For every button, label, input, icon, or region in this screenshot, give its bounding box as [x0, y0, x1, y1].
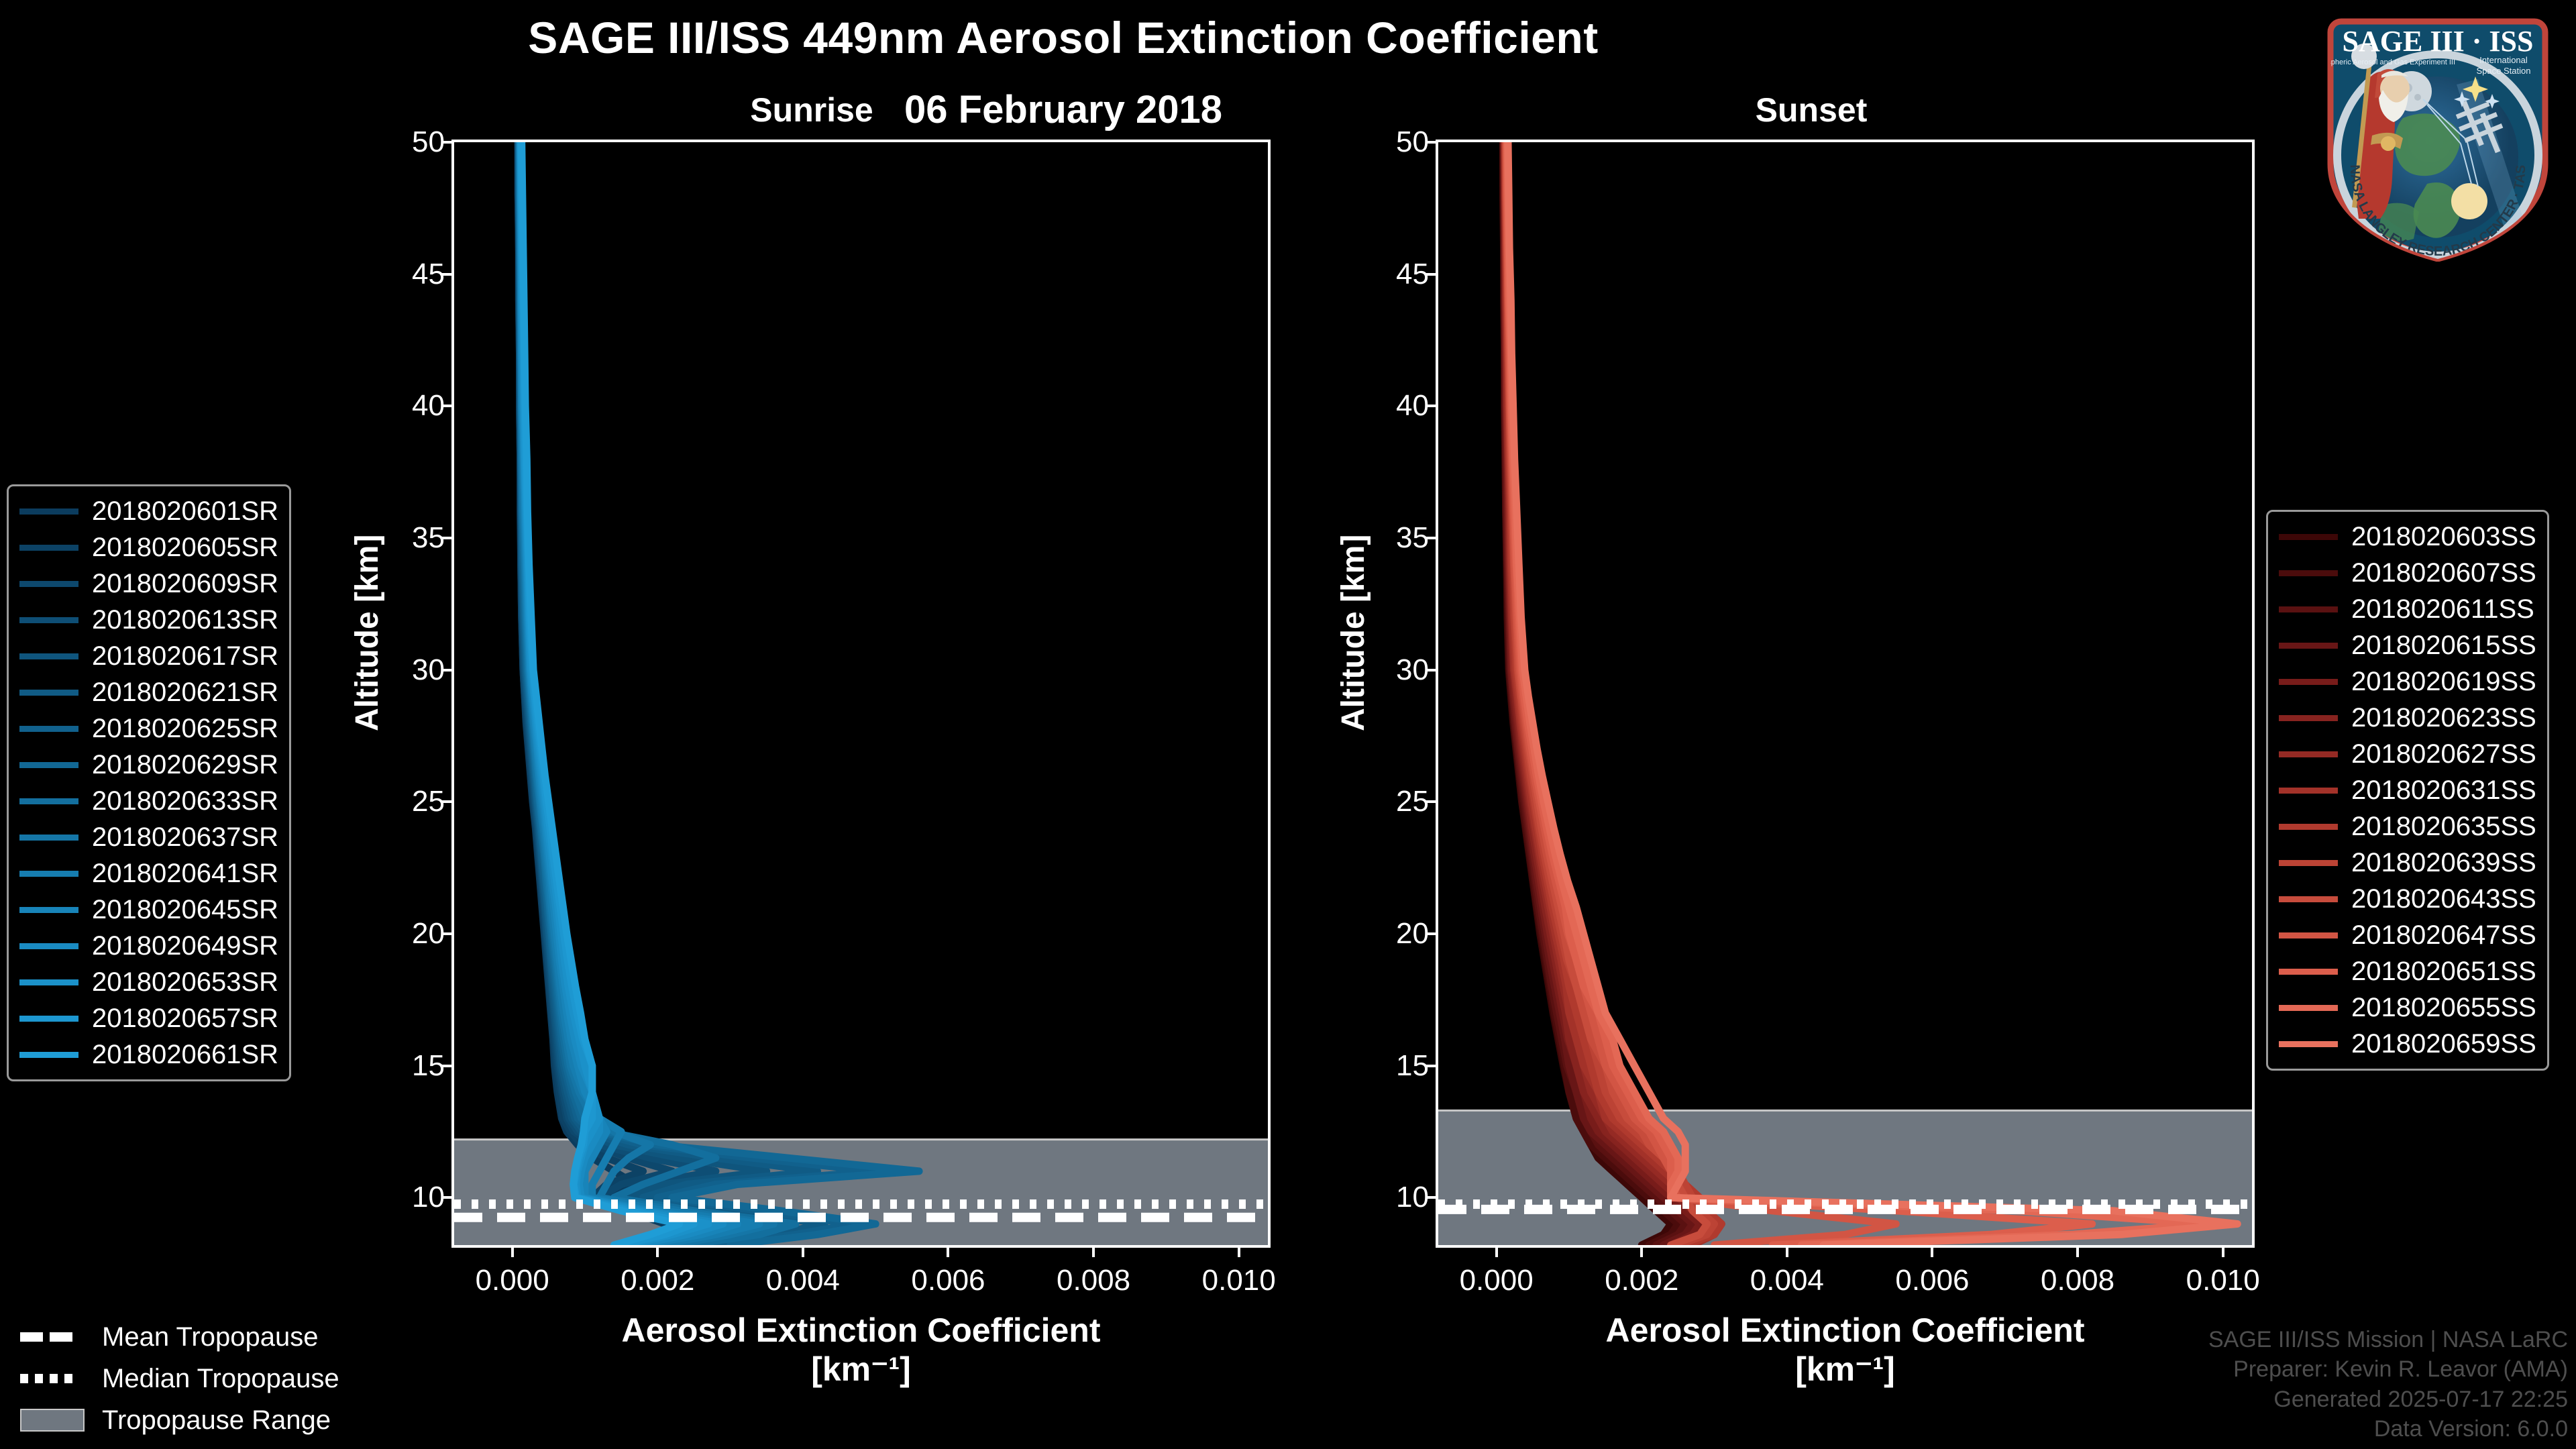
tropopause-legend-label: Tropopause Range [102, 1405, 331, 1436]
x-axis-tick-label-sunrise: 0.010 [1202, 1264, 1276, 1297]
y-axis-tick-label-sunrise: 45 [412, 258, 445, 291]
legend-sunset-item[interactable]: 2018020611SS [2279, 591, 2536, 627]
legend-item-label: 2018020615SS [2351, 631, 2536, 661]
legend-sunset-item[interactable]: 2018020615SS [2279, 627, 2536, 663]
legend-item-label: 2018020651SS [2351, 957, 2536, 987]
tropopause-legend-item: Median Tropopause [20, 1358, 339, 1399]
tropopause-legend-label: Median Tropopause [102, 1364, 339, 1394]
legend-sunset-item[interactable]: 2018020627SS [2279, 736, 2536, 772]
profile-line [518, 142, 679, 1245]
x-axis-unit: [km⁻¹] [451, 1350, 1271, 1389]
legend-sunrise-item[interactable]: 2018020637SR [19, 819, 278, 855]
legend-color-swatch [2279, 534, 2338, 540]
legend-color-swatch [19, 1016, 78, 1022]
legend-color-swatch [2279, 824, 2338, 830]
panel-label-sunset: Sunset [1603, 91, 2019, 129]
y-axis-tick-label-sunrise: 40 [412, 389, 445, 423]
x-axis-label-text: Aerosol Extinction Coefficient [1606, 1311, 2085, 1349]
x-axis-tick-mark [2076, 1245, 2079, 1257]
sage-iii-iss-mission-patch-logo: SAGE III · ISS Stratospheric Aerosol and… [2302, 4, 2573, 262]
profile-line [518, 142, 716, 1245]
y-axis-tick-label-sunrise: 15 [412, 1049, 445, 1083]
legend-item-label: 2018020657SR [92, 1004, 278, 1034]
mean-tropopause-dash-swatch [20, 1332, 85, 1342]
legend-item-label: 2018020655SS [2351, 993, 2536, 1023]
x-axis-tick-mark [2222, 1245, 2224, 1257]
legend-sunrise-item[interactable]: 2018020625SR [19, 710, 278, 747]
y-axis-tick-label-sunrise: 30 [412, 653, 445, 687]
x-axis-tick-label-sunset: 0.004 [1750, 1264, 1824, 1297]
profile-line [521, 142, 694, 1245]
legend-item-label: 2018020627SS [2351, 739, 2536, 769]
y-axis-tick-label-sunrise: 35 [412, 521, 445, 555]
legend-item-label: 2018020653SR [92, 967, 278, 998]
x-axis-tick-mark [656, 1245, 659, 1257]
legend-sunset-item[interactable]: 2018020619SS [2279, 663, 2536, 700]
legend-color-swatch [2279, 606, 2338, 612]
legend-color-swatch [2279, 969, 2338, 975]
legend-sunset-item[interactable]: 2018020603SS [2279, 519, 2536, 555]
panel-label-sunrise: Sunrise [604, 91, 1020, 129]
y-axis-tick-mark [442, 273, 454, 276]
y-axis-tick-label-sunrise: 25 [412, 785, 445, 818]
legend-color-swatch [2279, 751, 2338, 757]
legend-item-label: 2018020625SR [92, 714, 278, 744]
legend-sunset-item[interactable]: 2018020631SS [2279, 772, 2536, 808]
legend-color-swatch [2279, 679, 2338, 685]
legend-color-swatch [19, 835, 78, 841]
x-axis-label-sunrise: Aerosol Extinction Coefficient [km⁻¹] [451, 1311, 1271, 1389]
y-axis-tick-mark [1426, 1065, 1438, 1067]
legend-sunset-item[interactable]: 2018020635SS [2279, 808, 2536, 845]
tropopause-range-swatch [20, 1409, 85, 1432]
legend-item-label: 2018020647SS [2351, 920, 2536, 951]
x-axis-tick-label-sunrise: 0.006 [911, 1264, 985, 1297]
y-axis-tick-mark [1426, 405, 1438, 407]
y-axis-tick-mark [442, 800, 454, 803]
y-axis-tick-label-sunrise: 10 [412, 1181, 445, 1214]
legend-color-swatch [19, 617, 78, 623]
legend-color-swatch [2279, 715, 2338, 721]
x-axis-tick-label-sunset: 0.006 [1895, 1264, 1969, 1297]
tropopause-legend-item: Tropopause Range [20, 1399, 339, 1441]
legend-item-label: 2018020601SR [92, 496, 278, 527]
legend-sunrise-item[interactable]: 2018020653SR [19, 964, 278, 1000]
credits-line: Preparer: Kevin R. Leavor (AMA) [2208, 1354, 2568, 1384]
legend-sunset-item[interactable]: 2018020639SS [2279, 845, 2536, 881]
legend-sunrise-item[interactable]: 2018020641SR [19, 855, 278, 892]
credits-line: Generated 2025-07-17 22:25 [2208, 1385, 2568, 1414]
x-axis-tick-label-sunset: 0.008 [2041, 1264, 2114, 1297]
x-axis-tick-label-sunset: 0.010 [2186, 1264, 2260, 1297]
x-axis-tick-mark [802, 1245, 804, 1257]
legend-color-swatch [19, 1052, 78, 1058]
legend-color-swatch [2279, 860, 2338, 866]
legend-item-label: 2018020633SR [92, 786, 278, 816]
legend-sunset[interactable]: 2018020603SS2018020607SS2018020611SS2018… [2266, 510, 2549, 1071]
y-axis-tick-mark [442, 537, 454, 539]
plot-area-sunrise [454, 142, 1268, 1245]
legend-item-label: 2018020621SR [92, 678, 278, 708]
y-axis-tick-label-sunset: 35 [1396, 521, 1429, 555]
legend-color-swatch [19, 726, 78, 732]
legend-color-swatch [19, 508, 78, 515]
legend-sunset-item[interactable]: 2018020651SS [2279, 953, 2536, 989]
legend-tropopause: Mean TropopauseMedian TropopauseTropopau… [20, 1316, 339, 1441]
legend-item-label: 2018020605SR [92, 533, 278, 563]
legend-color-swatch [2279, 896, 2338, 902]
profile-line [521, 142, 709, 1245]
x-axis-tick-mark [947, 1245, 949, 1257]
legend-color-swatch [2279, 932, 2338, 938]
legend-sunrise-item[interactable]: 2018020657SR [19, 1000, 278, 1036]
legend-item-label: 2018020623SS [2351, 703, 2536, 733]
legend-color-swatch [19, 545, 78, 551]
legend-sunset-item[interactable]: 2018020643SS [2279, 881, 2536, 917]
plot-panel-sunrise: 1015202530354045500.0000.0020.0040.0060.… [451, 140, 1271, 1248]
legend-sunset-item[interactable]: 2018020623SS [2279, 700, 2536, 736]
logo-subtitle-right-2: Space Station [2477, 66, 2531, 76]
legend-item-label: 2018020649SR [92, 931, 278, 961]
y-axis-tick-label-sunrise: 50 [412, 125, 445, 159]
plot-panel-sunset: 1015202530354045500.0000.0020.0040.0060.… [1436, 140, 2255, 1248]
legend-item-label: 2018020641SR [92, 859, 278, 889]
y-axis-tick-mark [1426, 537, 1438, 539]
legend-item-label: 2018020613SR [92, 605, 278, 635]
profile-line [519, 142, 788, 1245]
legend-sunrise-item[interactable]: 2018020609SR [19, 566, 278, 602]
y-axis-tick-mark [1426, 273, 1438, 276]
legend-sunrise-item[interactable]: 2018020633SR [19, 783, 278, 819]
legend-color-swatch [19, 690, 78, 696]
tropopause-legend-item: Mean Tropopause [20, 1316, 339, 1358]
x-axis-tick-mark [1640, 1245, 1643, 1257]
legend-sunset-item[interactable]: 2018020607SS [2279, 555, 2536, 591]
legend-color-swatch [19, 979, 78, 985]
legend-color-swatch [2279, 643, 2338, 649]
legend-color-swatch [19, 798, 78, 804]
y-axis-tick-mark [442, 1065, 454, 1067]
legend-item-label: 2018020603SS [2351, 522, 2536, 552]
legend-sunrise-item[interactable]: 2018020661SR [19, 1036, 278, 1073]
x-axis-label-sunset: Aerosol Extinction Coefficient [km⁻¹] [1436, 1311, 2255, 1389]
legend-sunrise[interactable]: 2018020601SR2018020605SR2018020609SR2018… [7, 484, 291, 1081]
y-axis-tick-label-sunset: 10 [1396, 1181, 1429, 1214]
x-axis-tick-label-sunrise: 0.000 [476, 1264, 549, 1297]
x-axis-tick-label-sunrise: 0.002 [621, 1264, 694, 1297]
y-axis-tick-mark [442, 405, 454, 407]
legend-color-swatch [2279, 570, 2338, 576]
legend-color-swatch [19, 762, 78, 768]
y-axis-tick-label-sunrise: 20 [412, 917, 445, 951]
legend-color-swatch [2279, 1041, 2338, 1047]
legend-item-label: 2018020611SS [2351, 594, 2534, 625]
y-axis-tick-mark [1426, 800, 1438, 803]
x-axis-label-text: Aerosol Extinction Coefficient [622, 1311, 1101, 1349]
legend-sunrise-item[interactable]: 2018020613SR [19, 602, 278, 638]
y-axis-tick-label-sunset: 50 [1396, 125, 1429, 159]
y-axis-tick-mark [1426, 669, 1438, 672]
legend-item-label: 2018020629SR [92, 750, 278, 780]
y-axis-tick-mark [1426, 932, 1438, 935]
credits-line: Data Version: 6.0.0 [2208, 1414, 2568, 1444]
y-axis-tick-label-sunset: 15 [1396, 1049, 1429, 1083]
x-axis-tick-label-sunrise: 0.008 [1057, 1264, 1130, 1297]
credits-block: SAGE III/ISS Mission | NASA LaRCPreparer… [2208, 1325, 2568, 1444]
y-axis-label-sunset: Altitude [km] [1335, 535, 1372, 731]
legend-color-swatch [2279, 788, 2338, 794]
x-axis-tick-label-sunset: 0.002 [1605, 1264, 1678, 1297]
profile-line [521, 142, 723, 1245]
logo-title-text: SAGE III · ISS [2343, 25, 2534, 58]
legend-sunrise-item[interactable]: 2018020617SR [19, 638, 278, 674]
legend-item-label: 2018020619SS [2351, 667, 2536, 697]
plot-area-sunset [1438, 142, 2252, 1245]
y-axis-tick-label-sunset: 30 [1396, 653, 1429, 687]
tropopause-range-band [1438, 1110, 2252, 1245]
legend-item-label: 2018020617SR [92, 641, 278, 672]
legend-color-swatch [19, 907, 78, 913]
x-axis-tick-mark [1931, 1245, 1933, 1257]
legend-sunset-item[interactable]: 2018020647SS [2279, 917, 2536, 953]
x-axis-tick-mark [511, 1245, 514, 1257]
legend-color-swatch [19, 653, 78, 659]
y-axis-tick-mark [1426, 1196, 1438, 1199]
tropopause-legend-label: Mean Tropopause [102, 1322, 318, 1352]
y-axis-tick-mark [442, 932, 454, 935]
legend-sunrise-item[interactable]: 2018020601SR [19, 493, 278, 529]
legend-sunrise-item[interactable]: 2018020605SR [19, 529, 278, 566]
y-axis-tick-label-sunset: 25 [1396, 785, 1429, 818]
y-axis-tick-mark [442, 669, 454, 672]
median-tropopause-dot-swatch [20, 1374, 85, 1383]
x-axis-tick-label-sunrise: 0.004 [766, 1264, 840, 1297]
legend-sunrise-item[interactable]: 2018020645SR [19, 892, 278, 928]
legend-item-label: 2018020635SS [2351, 812, 2536, 842]
y-axis-tick-mark [1426, 141, 1438, 144]
legend-color-swatch [19, 871, 78, 877]
legend-color-swatch [19, 581, 78, 587]
legend-sunset-item[interactable]: 2018020655SS [2279, 989, 2536, 1026]
y-axis-tick-mark [442, 1196, 454, 1199]
profile-line [522, 142, 680, 1245]
x-axis-tick-mark [1495, 1245, 1498, 1257]
legend-item-label: 2018020637SR [92, 822, 278, 853]
legend-sunrise-item[interactable]: 2018020629SR [19, 747, 278, 783]
legend-item-label: 2018020607SS [2351, 558, 2536, 588]
profile-line [1506, 142, 1707, 1245]
y-axis-label-sunrise: Altitude [km] [349, 535, 386, 731]
y-axis-tick-label-sunset: 45 [1396, 258, 1429, 291]
x-axis-unit: [km⁻¹] [1436, 1350, 2255, 1389]
legend-sunset-item[interactable]: 2018020659SS [2279, 1026, 2536, 1062]
legend-item-label: 2018020631SS [2351, 775, 2536, 806]
x-axis-tick-label-sunset: 0.000 [1460, 1264, 1534, 1297]
legend-item-label: 2018020645SR [92, 895, 278, 925]
y-axis-tick-mark [442, 141, 454, 144]
x-axis-tick-mark [1786, 1245, 1788, 1257]
legend-item-label: 2018020639SS [2351, 848, 2536, 878]
page-title: SAGE III/ISS 449nm Aerosol Extinction Co… [0, 12, 2127, 63]
y-axis-tick-label-sunset: 40 [1396, 389, 1429, 423]
x-axis-tick-mark [1238, 1245, 1240, 1257]
legend-sunrise-item[interactable]: 2018020621SR [19, 674, 278, 710]
y-axis-tick-label-sunset: 20 [1396, 917, 1429, 951]
x-axis-tick-mark [1092, 1245, 1095, 1257]
legend-sunrise-item[interactable]: 2018020649SR [19, 928, 278, 964]
logo-subtitle-right-1: International [2479, 55, 2528, 65]
legend-item-label: 2018020659SS [2351, 1029, 2536, 1059]
legend-item-label: 2018020661SR [92, 1040, 278, 1070]
profile-line [518, 142, 686, 1245]
credits-line: SAGE III/ISS Mission | NASA LaRC [2208, 1325, 2568, 1354]
legend-color-swatch [19, 943, 78, 949]
legend-item-label: 2018020609SR [92, 569, 278, 599]
legend-color-swatch [2279, 1005, 2338, 1011]
legend-item-label: 2018020643SS [2351, 884, 2536, 914]
